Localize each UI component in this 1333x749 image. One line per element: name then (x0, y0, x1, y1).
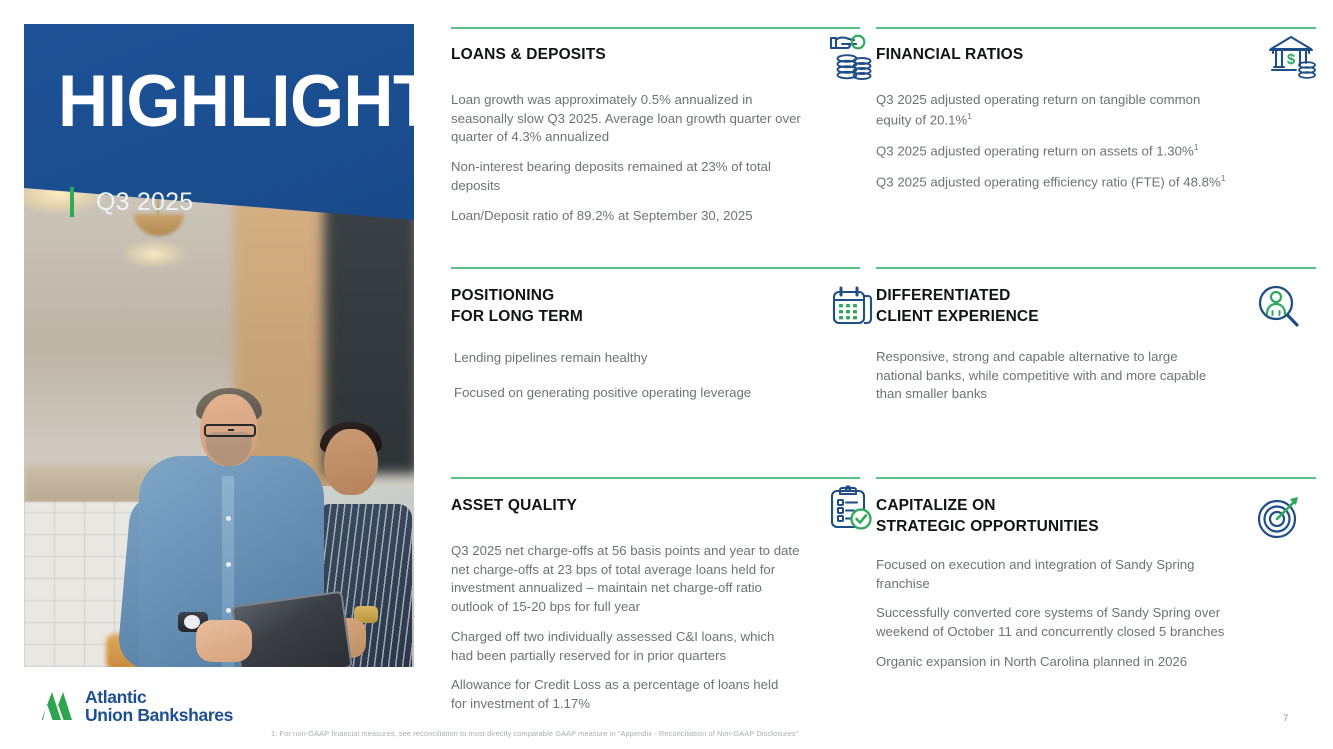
calendar-icon (823, 283, 873, 331)
slide-root: HIGHLIGHTS Q3 2025 Atlantic Union Banksh… (0, 0, 1333, 749)
bank-dollar-icon: $ (1266, 32, 1316, 80)
divider-asset-quality (451, 477, 860, 479)
logo-mark-icon (42, 691, 76, 721)
card-bullets-capitalize: Focused on execution and integration of … (876, 556, 1316, 672)
page-title: HIGHLIGHTS (58, 66, 414, 139)
bullet-text: Q3 2025 adjusted operating efficiency ra… (876, 174, 1221, 189)
hero-subtitle-group: Q3 2025 (70, 187, 193, 217)
bullet-text: Q3 2025 adjusted operating return on tan… (876, 92, 1200, 127)
divider-differentiated (876, 267, 1316, 269)
footnote-marker: 1 (967, 111, 972, 121)
logo-line-2: Union Bankshares (85, 706, 233, 724)
target-arrow-icon (1254, 493, 1304, 541)
card-title-capitalize: CAPITALIZE ON STRATEGIC OPPORTUNITIES (876, 495, 1099, 537)
divider-capitalize (876, 477, 1316, 479)
bullet: Q3 2025 adjusted operating efficiency ra… (876, 172, 1286, 192)
bullet: Loan/Deposit ratio of 89.2% at September… (451, 207, 809, 226)
bullet: Q3 2025 adjusted operating return on tan… (876, 91, 1238, 130)
hand-coins-icon (823, 32, 873, 80)
logo-wordmark: Atlantic Union Bankshares (85, 688, 233, 724)
bullet: Q3 2025 adjusted operating return on ass… (876, 141, 1276, 161)
bullet: Focused on generating positive operating… (454, 384, 817, 403)
card-bullets-positioning: Lending pipelines remain healthy Focused… (454, 349, 817, 402)
card-positioning-for-long-term: POSITIONING FOR LONG TERM (451, 285, 817, 413)
divider-positioning (451, 267, 860, 269)
bullet: Allowance for Credit Loss as a percentag… (451, 676, 787, 713)
hero-panel: HIGHLIGHTS Q3 2025 (24, 24, 414, 667)
card-financial-ratios: FINANCIAL RATIOS $ (876, 44, 1316, 203)
clipboard-check-icon (823, 483, 873, 531)
card-title-positioning: POSITIONING FOR LONG TERM (451, 285, 583, 327)
card-asset-quality: ASSET QUALITY (451, 495, 817, 725)
bullet: Focused on execution and integration of … (876, 556, 1228, 593)
card-loans-deposits: LOANS & DEPOSITS (451, 44, 817, 236)
company-logo: Atlantic Union Bankshares (42, 688, 233, 724)
accent-bar (70, 187, 74, 217)
card-bullets-differentiated: Responsive, strong and capable alternati… (876, 348, 1316, 404)
card-bullets-asset-quality: Q3 2025 net charge-offs at 56 basis poin… (451, 542, 817, 714)
bullet: Lending pipelines remain healthy (454, 349, 817, 368)
bullet: Q3 2025 net charge-offs at 56 basis poin… (451, 542, 801, 617)
hero-subtitle: Q3 2025 (96, 188, 193, 217)
card-bullets-financial-ratios: Q3 2025 adjusted operating return on tan… (876, 91, 1316, 192)
card-capitalize-on-strategic-opportunities: CAPITALIZE ON STRATEGIC OPPORTUNITIES Fo… (876, 495, 1316, 683)
card-title-asset-quality: ASSET QUALITY (451, 495, 577, 516)
card-title-loans-deposits: LOANS & DEPOSITS (451, 44, 606, 65)
footnote-marker: 1 (1221, 173, 1226, 183)
footnote-marker: 1 (1194, 142, 1199, 152)
card-title-differentiated: DIFFERENTIATED CLIENT EXPERIENCE (876, 285, 1039, 327)
bullet: Organic expansion in North Carolina plan… (876, 653, 1276, 672)
svg-text:$: $ (1287, 51, 1296, 68)
card-bullets-loans-deposits: Loan growth was approximately 0.5% annua… (451, 91, 817, 225)
card-title-financial-ratios: FINANCIAL RATIOS (876, 44, 1023, 65)
logo-line-1: Atlantic (85, 688, 233, 706)
highlights-grid: LOANS & DEPOSITS (451, 0, 1317, 749)
divider-financial-ratios (876, 27, 1316, 29)
page-number: 7 (1283, 713, 1288, 724)
bullet: Responsive, strong and capable alternati… (876, 348, 1218, 404)
divider-loans-deposits (451, 27, 860, 29)
person-search-icon (1254, 283, 1304, 331)
bullet-text: Q3 2025 adjusted operating return on ass… (876, 143, 1194, 158)
footnote: 1. For non-GAAP financial measures, see … (271, 729, 798, 738)
bullet: Successfully converted core systems of S… (876, 604, 1232, 641)
bullet: Charged off two individually assessed C&… (451, 628, 799, 665)
bullet: Loan growth was approximately 0.5% annua… (451, 91, 809, 147)
bullet: Non-interest bearing deposits remained a… (451, 158, 781, 195)
card-differentiated-client-experience: DIFFERENTIATED CLIENT EXPERIENCE Respons… (876, 285, 1316, 415)
